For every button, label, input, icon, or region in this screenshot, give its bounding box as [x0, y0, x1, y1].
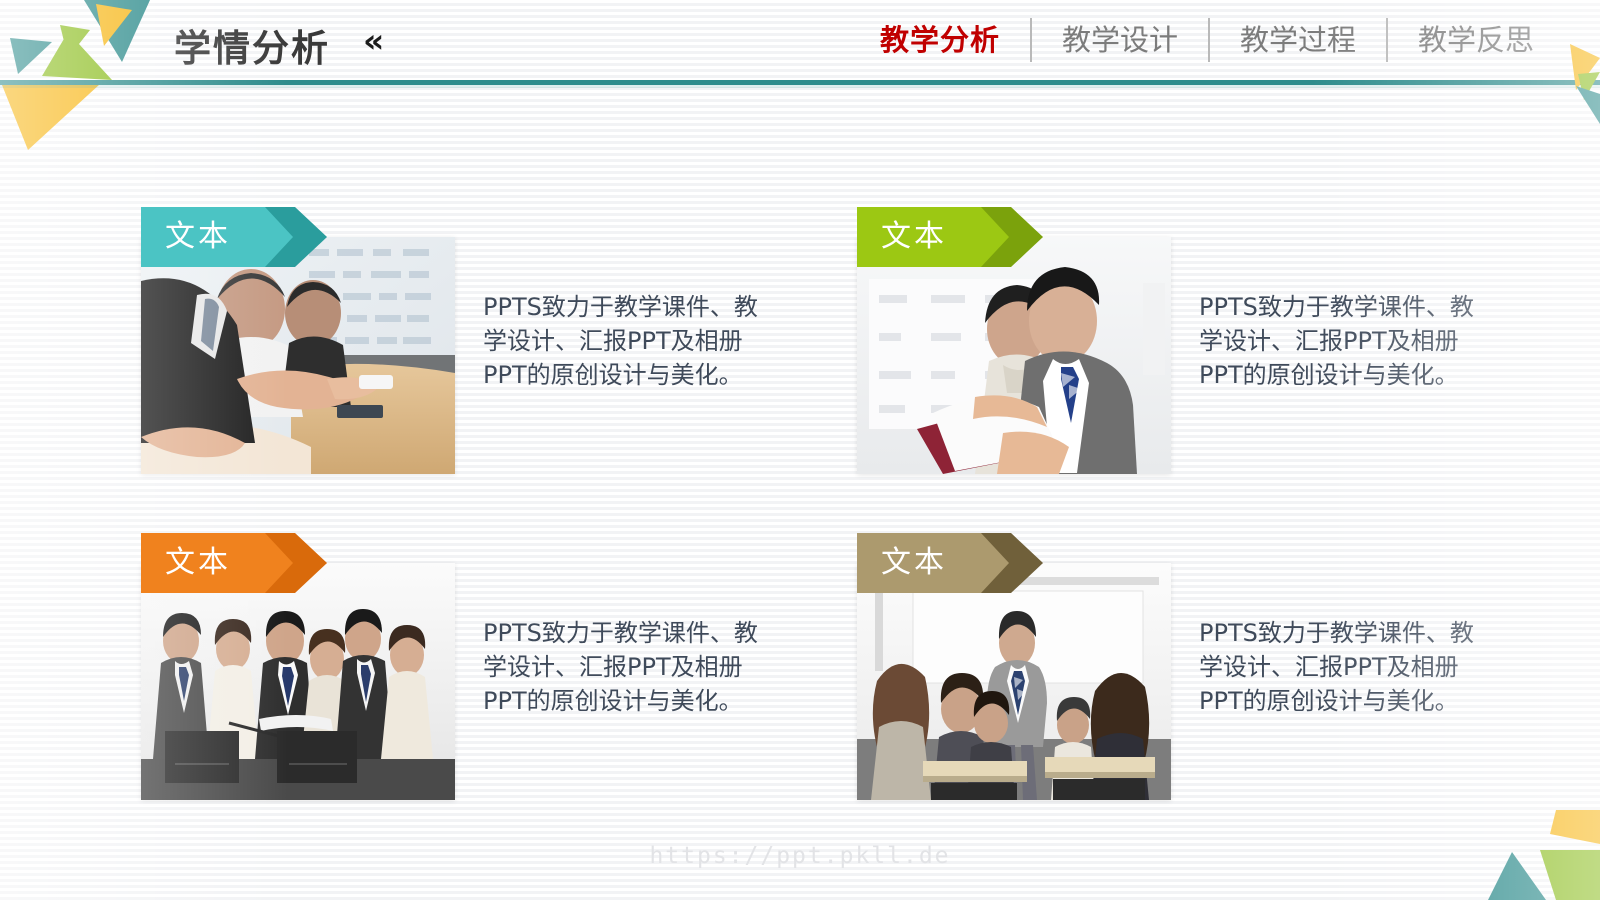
block-description: PPTS致力于教学课件、教 学设计、汇报PPT及相册 PPT的原创设计与美化。: [483, 616, 788, 718]
nav-item-teaching-analysis[interactable]: 教学分析: [850, 26, 1030, 55]
block-description: PPTS致力于教学课件、教 学设计、汇报PPT及相册 PPT的原创设计与美化。: [1199, 290, 1504, 392]
header-divider-shadow: [0, 85, 1600, 88]
slide-canvas: 学情分析 « 教学分析 教学设计 教学过程 教学反思: [0, 0, 1600, 900]
content-block: 文本 PPTS致力于教学课件、教 学设计、汇报PPT及相册 PPT的原创设计与美…: [141, 533, 801, 798]
nav-item-teaching-design[interactable]: 教学设计: [1032, 26, 1208, 55]
block-image: [857, 237, 1171, 474]
content-block: 文本 PPTS致力于教学课件、教 学设计、汇报PPT及相册 PPT的原创设计与美…: [141, 207, 801, 472]
block-tag-label: 文本: [141, 207, 231, 267]
block-tag: 文本: [857, 533, 1043, 593]
block-tag-label: 文本: [857, 533, 947, 593]
section-nav[interactable]: 教学分析 教学设计 教学过程 教学反思: [850, 16, 1564, 64]
block-tag-label: 文本: [857, 207, 947, 267]
page-title: 学情分析: [174, 18, 330, 72]
block-description: PPTS致力于教学课件、教 学设计、汇报PPT及相册 PPT的原创设计与美化。: [483, 290, 788, 392]
block-tag: 文本: [857, 207, 1043, 267]
block-image: [141, 563, 455, 800]
content-block: 文本 PPTS致力于教学课件、教 学设计、汇报PPT及相册 PPT的原创设计与美…: [857, 207, 1517, 472]
block-tag: 文本: [141, 533, 327, 593]
slide-header: 学情分析 « 教学分析 教学设计 教学过程 教学反思: [0, 0, 1600, 92]
block-description: PPTS致力于教学课件、教 学设计、汇报PPT及相册 PPT的原创设计与美化。: [1199, 616, 1504, 718]
nav-item-teaching-process[interactable]: 教学过程: [1210, 26, 1386, 55]
chevron-left-icon: «: [363, 24, 378, 57]
content-block: 文本 PPTS致力于教学课件、教 学设计、汇报PPT及相册 PPT的原创设计与美…: [857, 533, 1517, 798]
block-tag: 文本: [141, 207, 327, 267]
block-image: [141, 237, 455, 474]
block-tag-label: 文本: [141, 533, 231, 593]
nav-item-teaching-reflection[interactable]: 教学反思: [1388, 26, 1564, 55]
watermark: https://ppt.pkll.de: [0, 843, 1600, 869]
block-image: [857, 563, 1171, 800]
